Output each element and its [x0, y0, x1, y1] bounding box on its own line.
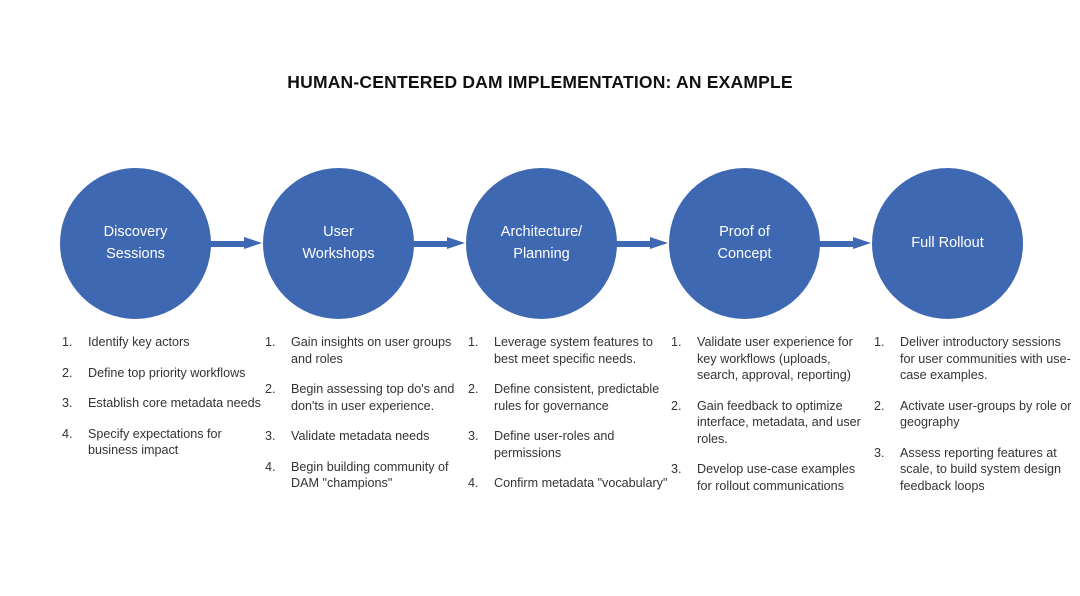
arrow-shaft [210, 241, 246, 247]
list-item-number: 2. [468, 381, 494, 398]
stage-label: Architecture/ Planning [487, 222, 596, 264]
arrow-head [650, 237, 668, 249]
list-item-number: 1. [265, 334, 291, 351]
detail-list-discovery-sessions: 1. Identify key actors 2. Define top pri… [62, 334, 262, 473]
list-item-number: 3. [671, 461, 697, 478]
arrow-shaft [616, 241, 652, 247]
detail-list-proof-of-concept: 1. Validate user experience for key work… [671, 334, 871, 508]
list-item-text: Activate user-groups by role or geograph… [900, 398, 1074, 431]
arrow-shaft [819, 241, 855, 247]
list-item-text: Deliver introductory sessions for user c… [900, 334, 1074, 384]
list-item-number: 2. [874, 398, 900, 415]
list-item-text: Begin assessing top do's and don'ts in u… [291, 381, 465, 414]
stage-circle-discovery-sessions[interactable]: Discovery Sessions [60, 168, 211, 319]
list-item: 3. Define user-roles and permissions [468, 428, 668, 461]
list-item-text: Define user-roles and permissions [494, 428, 668, 461]
list-item-number: 4. [265, 459, 291, 476]
list-item: 4. Begin building community of DAM "cham… [265, 459, 465, 492]
list-item: 2. Begin assessing top do's and don'ts i… [265, 381, 465, 414]
list-item-number: 3. [265, 428, 291, 445]
list-item-number: 4. [468, 475, 494, 492]
stage-circle-full-rollout[interactable]: Full Rollout [872, 168, 1023, 319]
list-item-number: 3. [62, 395, 88, 412]
list-item-text: Establish core metadata needs [88, 395, 262, 412]
list-item-text: Leverage system features to best meet sp… [494, 334, 668, 367]
stage-circle-proof-of-concept[interactable]: Proof of Concept [669, 168, 820, 319]
list-item: 2. Gain feedback to optimize interface, … [671, 398, 871, 448]
arrow-head [853, 237, 871, 249]
arrow-right-icon-1 [210, 237, 262, 250]
stage-label: User Workshops [288, 222, 388, 264]
list-item-text: Validate user experience for key workflo… [697, 334, 871, 384]
stage-circle-user-workshops[interactable]: User Workshops [263, 168, 414, 319]
list-item-number: 1. [62, 334, 88, 351]
list-item-number: 2. [671, 398, 697, 415]
detail-list-full-rollout: 1. Deliver introductory sessions for use… [874, 334, 1074, 508]
stage-details: 1. Identify key actors 2. Define top pri… [0, 334, 1080, 564]
arrow-head [244, 237, 262, 249]
list-item: 1. Deliver introductory sessions for use… [874, 334, 1074, 384]
list-item-number: 2. [62, 365, 88, 382]
list-item: 2. Define consistent, predictable rules … [468, 381, 668, 414]
list-item-number: 2. [265, 381, 291, 398]
process-flow: Discovery Sessions User Workshops Archit… [60, 168, 1022, 320]
list-item-number: 3. [468, 428, 494, 445]
list-item: 1. Identify key actors [62, 334, 262, 351]
list-item: 4. Confirm metadata "vocabulary" [468, 475, 668, 492]
list-item-number: 1. [468, 334, 494, 351]
list-item: 3. Assess reporting features at scale, t… [874, 445, 1074, 495]
arrow-head [447, 237, 465, 249]
stage-label: Proof of Concept [703, 222, 785, 264]
list-item: 1. Gain insights on user groups and role… [265, 334, 465, 367]
arrow-right-icon-2 [413, 237, 465, 250]
list-item-text: Confirm metadata "vocabulary" [494, 475, 668, 492]
list-item-text: Identify key actors [88, 334, 262, 351]
list-item-text: Define consistent, predictable rules for… [494, 381, 668, 414]
list-item: 3. Establish core metadata needs [62, 395, 262, 412]
detail-list-user-workshops: 1. Gain insights on user groups and role… [265, 334, 465, 506]
slide-canvas: HUMAN-CENTERED DAM IMPLEMENTATION: AN EX… [0, 0, 1080, 596]
list-item: 3. Develop use-case examples for rollout… [671, 461, 871, 494]
arrow-right-icon-3 [616, 237, 668, 250]
list-item-text: Develop use-case examples for rollout co… [697, 461, 871, 494]
list-item-text: Validate metadata needs [291, 428, 465, 445]
stage-circle-architecture-planning[interactable]: Architecture/ Planning [466, 168, 617, 319]
stage-label: Full Rollout [897, 233, 998, 254]
list-item: 4. Specify expectations for business imp… [62, 426, 262, 459]
list-item-text: Gain insights on user groups and roles [291, 334, 465, 367]
page-title: HUMAN-CENTERED DAM IMPLEMENTATION: AN EX… [0, 72, 1080, 93]
list-item: 1. Validate user experience for key work… [671, 334, 871, 384]
arrow-shaft [413, 241, 449, 247]
list-item: 1. Leverage system features to best meet… [468, 334, 668, 367]
list-item: 2. Activate user-groups by role or geogr… [874, 398, 1074, 431]
list-item-number: 4. [62, 426, 88, 443]
list-item: 3. Validate metadata needs [265, 428, 465, 445]
list-item-text: Begin building community of DAM "champio… [291, 459, 465, 492]
list-item-number: 3. [874, 445, 900, 462]
list-item-number: 1. [874, 334, 900, 351]
list-item-text: Gain feedback to optimize interface, met… [697, 398, 871, 448]
detail-list-architecture-planning: 1. Leverage system features to best meet… [468, 334, 668, 506]
list-item-text: Specify expectations for business impact [88, 426, 262, 459]
list-item-text: Define top priority workflows [88, 365, 262, 382]
list-item-text: Assess reporting features at scale, to b… [900, 445, 1074, 495]
list-item-number: 1. [671, 334, 697, 351]
stage-label: Discovery Sessions [90, 222, 182, 264]
arrow-right-icon-4 [819, 237, 871, 250]
list-item: 2. Define top priority workflows [62, 365, 262, 382]
